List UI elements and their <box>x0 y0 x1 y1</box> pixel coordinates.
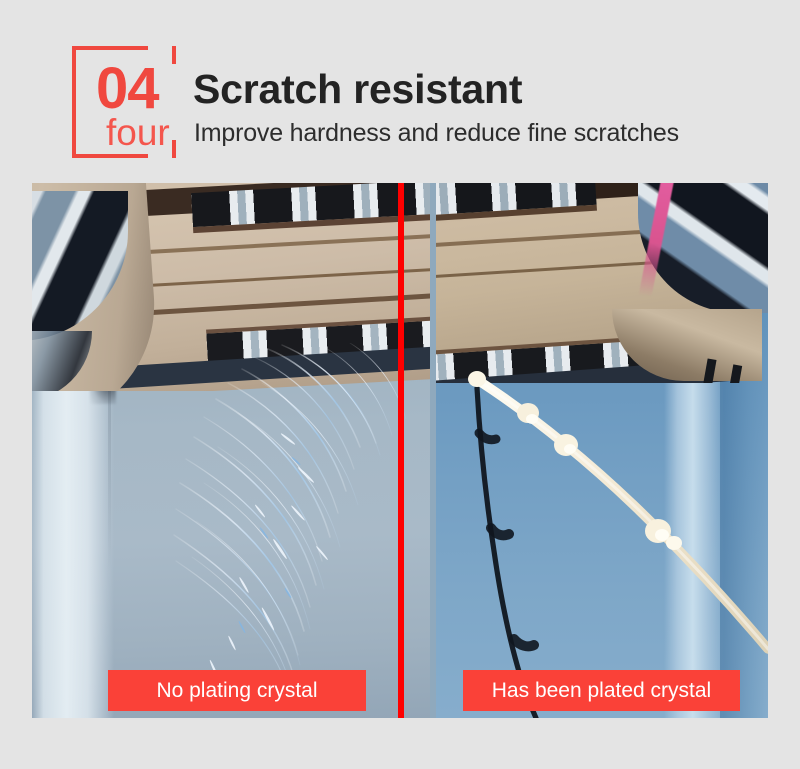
header-band: 04 four Scratch resistant Improve hardne… <box>0 0 800 183</box>
reflected-building-left <box>32 183 430 391</box>
reflected-building-right <box>436 183 768 383</box>
comparison-divider <box>398 183 404 718</box>
caption-left: No plating crystal <box>108 670 366 711</box>
photo-pane-left <box>32 183 430 718</box>
page-title: Scratch resistant <box>193 66 522 113</box>
step-number-badge: 04 four <box>72 46 176 158</box>
caption-right: Has been plated crystal <box>463 670 740 711</box>
infographic-page: 04 four Scratch resistant Improve hardne… <box>0 0 800 769</box>
step-number: 04 <box>96 60 159 118</box>
photo-pane-right <box>436 183 768 718</box>
page-subtitle: Improve hardness and reduce fine scratch… <box>194 119 679 148</box>
step-number-word: four <box>106 114 170 151</box>
